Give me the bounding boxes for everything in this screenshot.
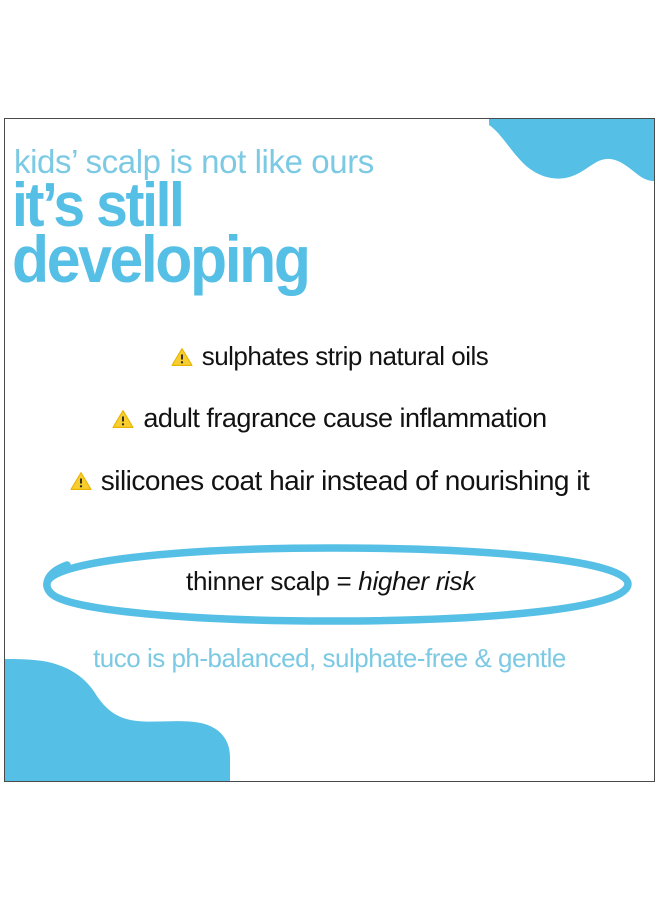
warning-triangle-icon	[112, 409, 134, 429]
warning-list: sulphates strip natural oils adult fragr…	[5, 341, 654, 528]
warning-triangle-icon	[171, 347, 193, 367]
warning-triangle-icon	[70, 471, 92, 491]
highlight-callout: thinner scalp = higher risk	[23, 539, 638, 629]
highlight-text: thinner scalp = higher risk	[23, 566, 638, 597]
poster-frame: kids’ scalp is not like ours it’s still …	[4, 118, 655, 782]
poster-content: kids’ scalp is not like ours it’s still …	[5, 119, 654, 781]
list-item-label: silicones coat hair instead of nourishin…	[101, 465, 590, 497]
poster-canvas: kids’ scalp is not like ours it’s still …	[0, 0, 660, 900]
list-item: silicones coat hair instead of nourishin…	[5, 465, 654, 497]
highlight-prefix: thinner scalp =	[186, 566, 358, 596]
list-item-label: sulphates strip natural oils	[202, 341, 489, 372]
list-item: adult fragrance cause inflammation	[5, 403, 654, 434]
highlight-emphasis: higher risk	[358, 566, 475, 596]
list-item: sulphates strip natural oils	[5, 341, 654, 372]
page-title: it’s still developing	[12, 181, 334, 286]
headline-line-2: developing	[12, 232, 309, 286]
list-item-label: adult fragrance cause inflammation	[143, 403, 546, 434]
tagline-text: tuco is ph-balanced, sulphate-free & gen…	[5, 643, 654, 674]
